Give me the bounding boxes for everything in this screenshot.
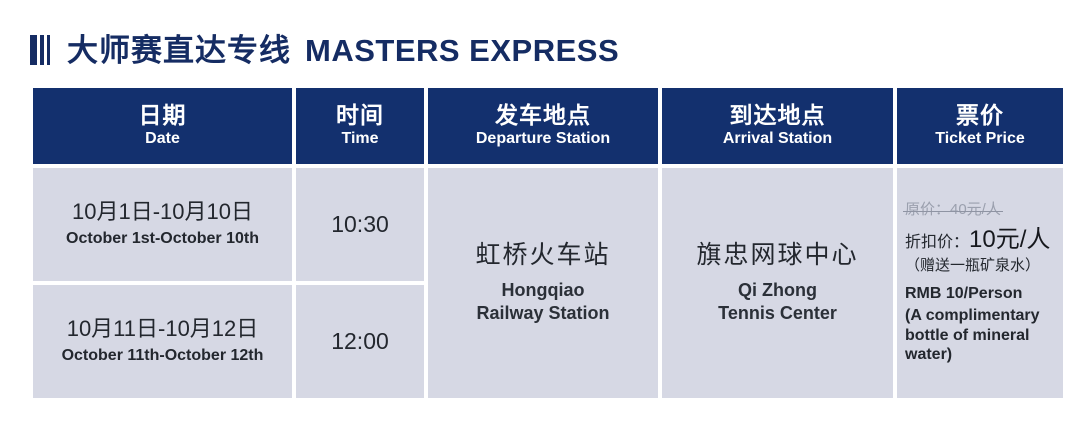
column-header-price-cn: 票价 [956,102,1004,128]
original-price-strikethrough: 原价：40元/人 [905,201,1001,219]
departure-station-en-line1: Hongqiao [476,279,609,302]
discount-price-amount: 10元/人 [969,226,1050,254]
date-value-en: October 1st-October 10th [66,229,259,250]
column-header-date: 日期 Date [33,88,292,164]
time-value: 10:30 [331,211,389,239]
column-header-departure: 发车地点 Departure Station [428,88,658,164]
title-accent-bars-icon [30,35,53,65]
column-header-price: 票价 Ticket Price [897,88,1063,164]
table-row: 10月11日-10月12日 October 11th-October 12th [33,285,292,398]
departure-station-cn: 虹桥火车站 [475,240,610,271]
column-header-departure-en: Departure Station [476,129,610,150]
column-header-arrival-cn: 到达地点 [730,102,826,128]
price-english-note: (A complimentary bottle of mineral water… [905,306,1057,365]
column-header-arrival: 到达地点 Arrival Station [662,88,893,164]
discount-price: 折扣价： 10元/人 [905,226,1050,254]
time-value: 12:00 [331,328,389,356]
column-header-departure-cn: 发车地点 [495,102,591,128]
table-row: 10月1日-10月10日 October 1st-October 10th [33,168,292,281]
price-english-main: RMB 10/Person [905,284,1022,304]
column-header-date-en: Date [145,129,180,150]
date-value-cn: 10月1日-10月10日 [72,199,253,225]
departure-station-cell: 虹桥火车站 Hongqiao Railway Station [428,168,658,398]
departure-station-en: Hongqiao Railway Station [476,279,609,326]
arrival-station-cell: 旗忠网球中心 Qi Zhong Tennis Center [662,168,893,398]
price-note-cn: （赠送一瓶矿泉水） [905,257,1040,275]
ticket-price-cell: 原价：40元/人 折扣价： 10元/人 （赠送一瓶矿泉水） RMB 10/Per… [897,168,1063,398]
date-value-en: October 11th-October 12th [62,346,264,367]
title-chinese: 大师赛直达专线 [67,35,291,66]
page-title: 大师赛直达专线 MASTERS EXPRESS [30,26,619,74]
column-header-time-en: Time [341,129,378,150]
poster-root: 大师赛直达专线 MASTERS EXPRESS 日期 Date 时间 Time … [0,0,1080,441]
arrival-station-en: Qi Zhong Tennis Center [718,279,837,326]
date-value-cn: 10月11日-10月12日 [67,316,259,342]
schedule-table: 日期 Date 时间 Time 发车地点 Departure Station 到… [33,88,1047,402]
arrival-station-en-line2: Tennis Center [718,302,837,325]
column-header-time: 时间 Time [296,88,424,164]
column-header-date-cn: 日期 [139,102,187,128]
title-english: MASTERS EXPRESS [305,35,619,66]
departure-station-en-line2: Railway Station [476,302,609,325]
arrival-station-en-line1: Qi Zhong [718,279,837,302]
time-cell: 10:30 [296,168,424,281]
discount-price-label: 折扣价： [905,234,969,252]
arrival-station-cn: 旗忠网球中心 [696,240,858,271]
column-header-time-cn: 时间 [336,102,384,128]
column-header-arrival-en: Arrival Station [723,129,832,150]
time-cell: 12:00 [296,285,424,398]
column-header-price-en: Ticket Price [935,129,1025,150]
